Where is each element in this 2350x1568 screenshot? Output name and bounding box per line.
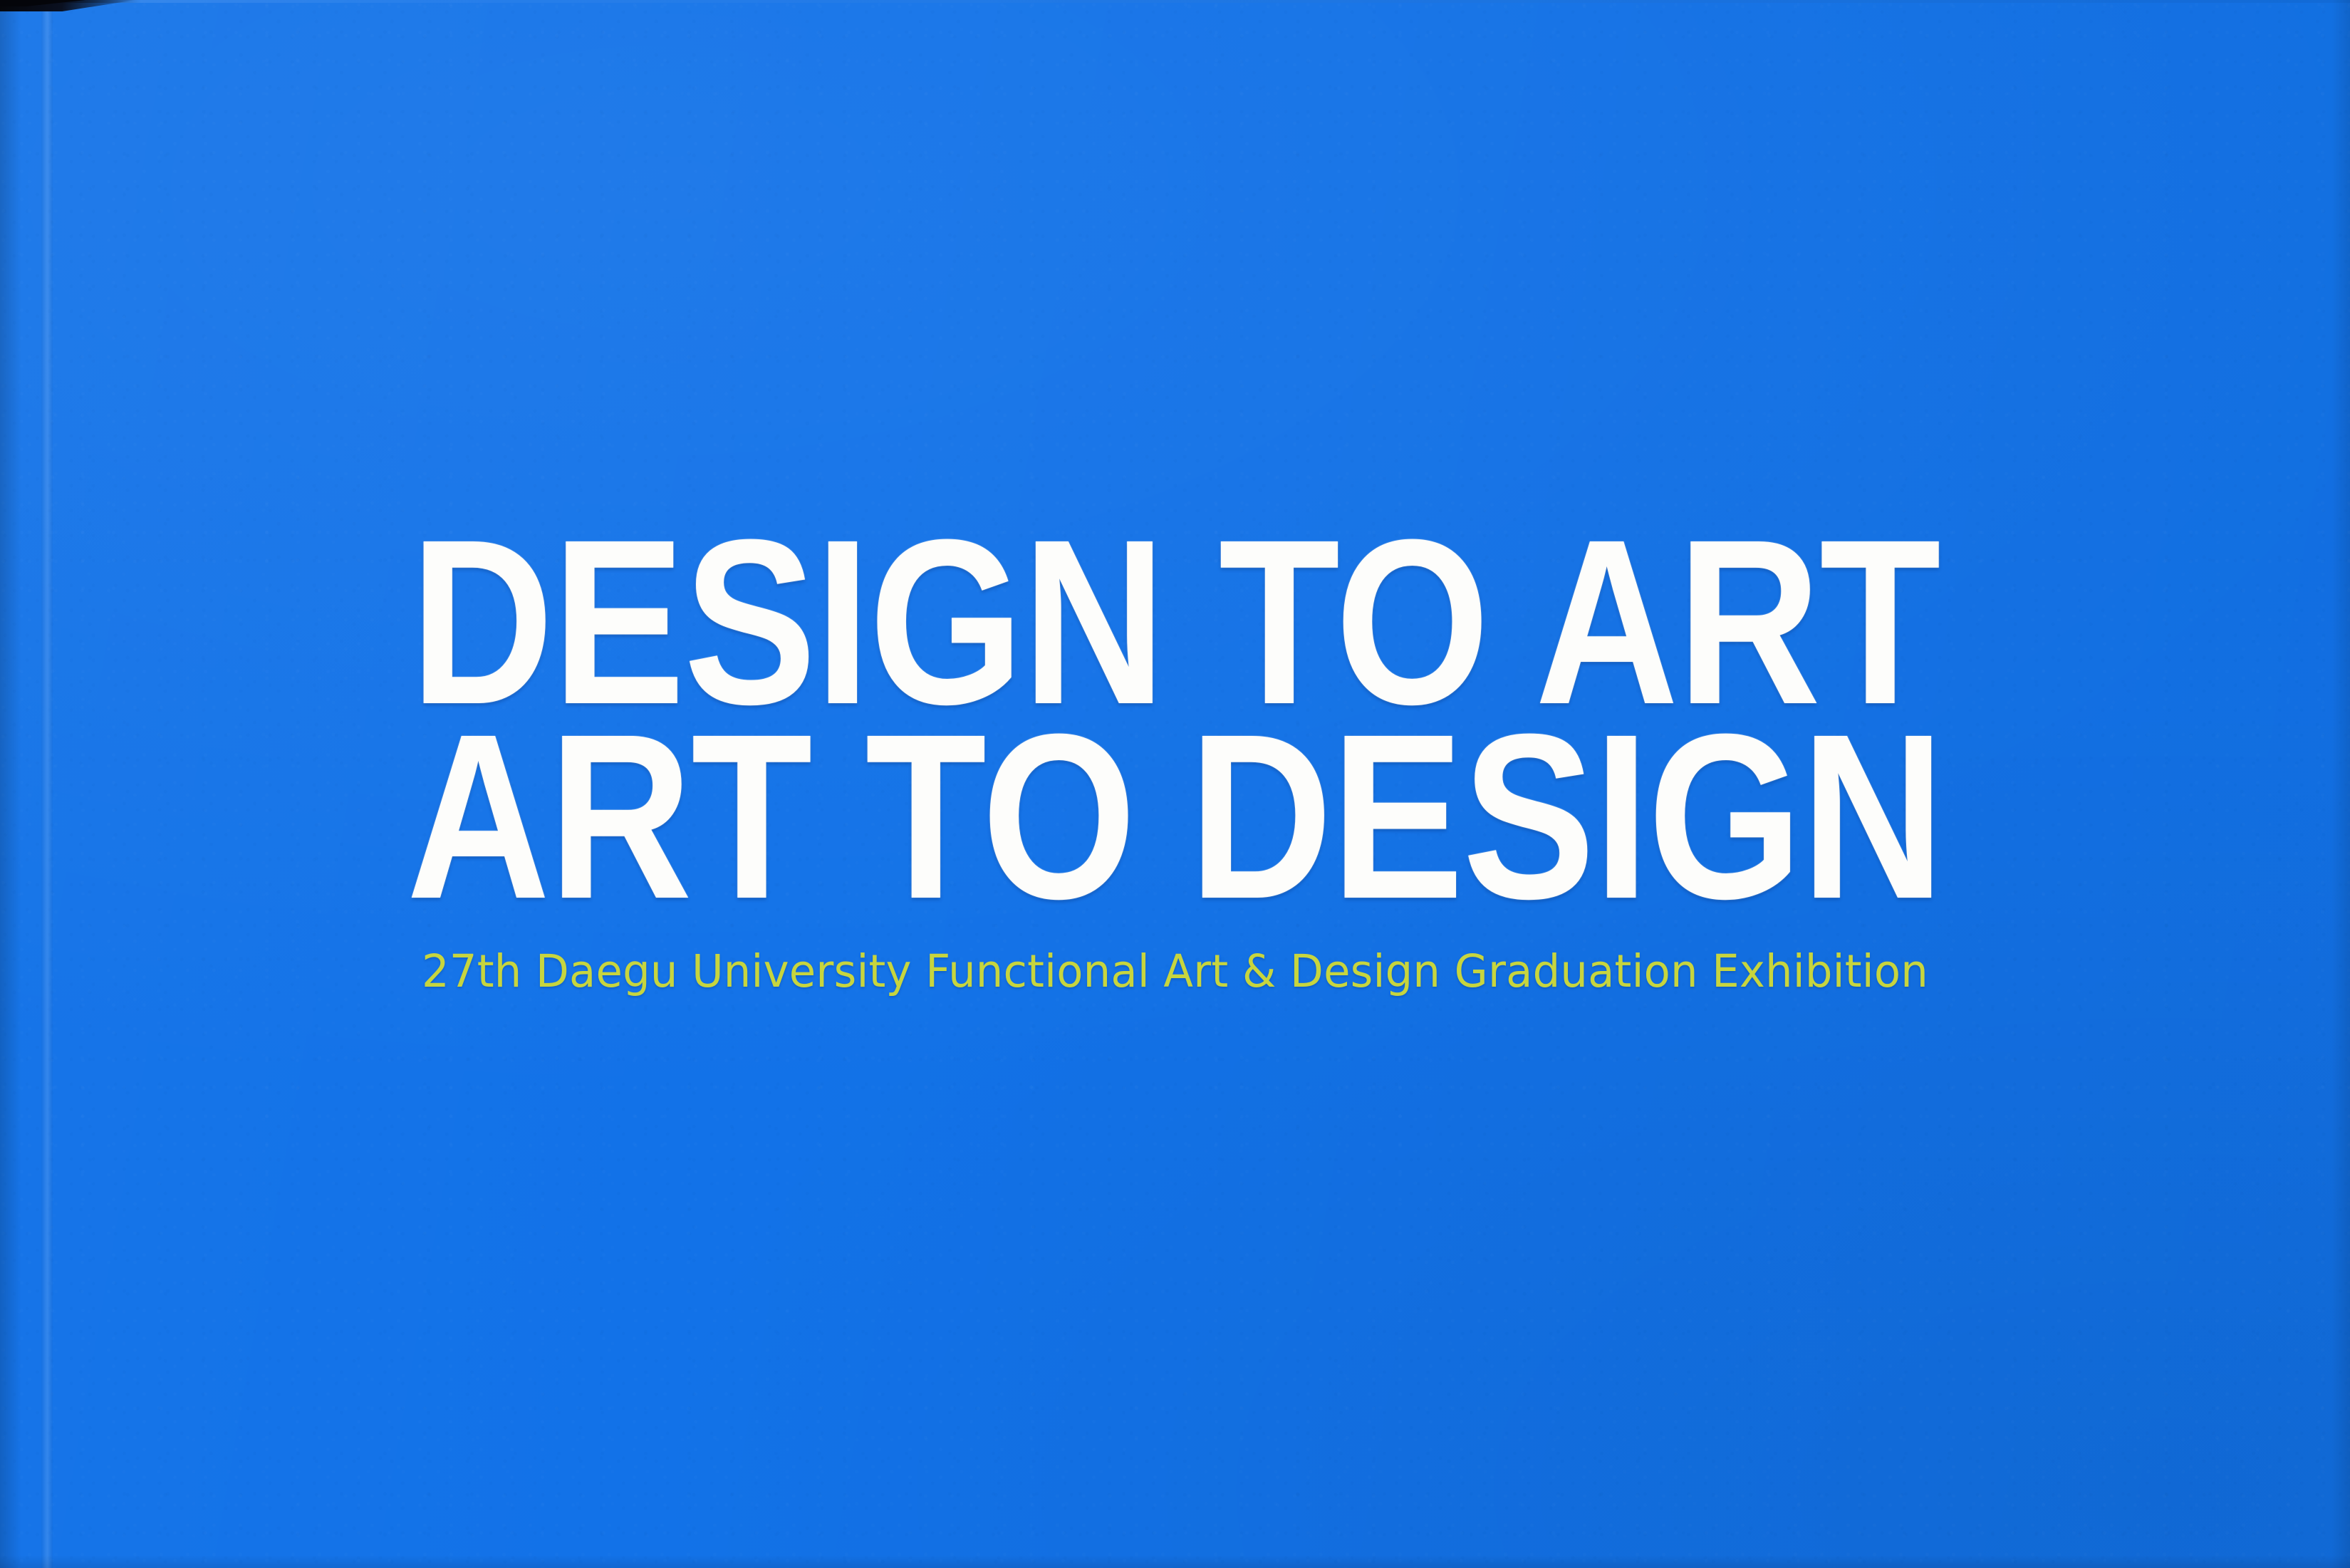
headline-line-2: ART TO DESIGN — [182, 723, 2168, 910]
corner-scan-shadow-core — [0, 0, 85, 6]
cover-headline: DESIGN TO ART ART TO DESIGN — [182, 529, 2168, 910]
bottom-edge-shadow — [0, 1555, 2350, 1568]
exhibition-catalog-cover: DESIGN TO ART ART TO DESIGN 27th Daegu U… — [0, 0, 2350, 1568]
cover-type-block: DESIGN TO ART ART TO DESIGN 27th Daegu U… — [0, 529, 2350, 994]
cover-subtitle: 27th Daegu University Functional Art & D… — [41, 910, 2309, 994]
corner-scan-shadow — [0, 0, 135, 11]
top-edge-highlight — [0, 0, 2350, 3]
